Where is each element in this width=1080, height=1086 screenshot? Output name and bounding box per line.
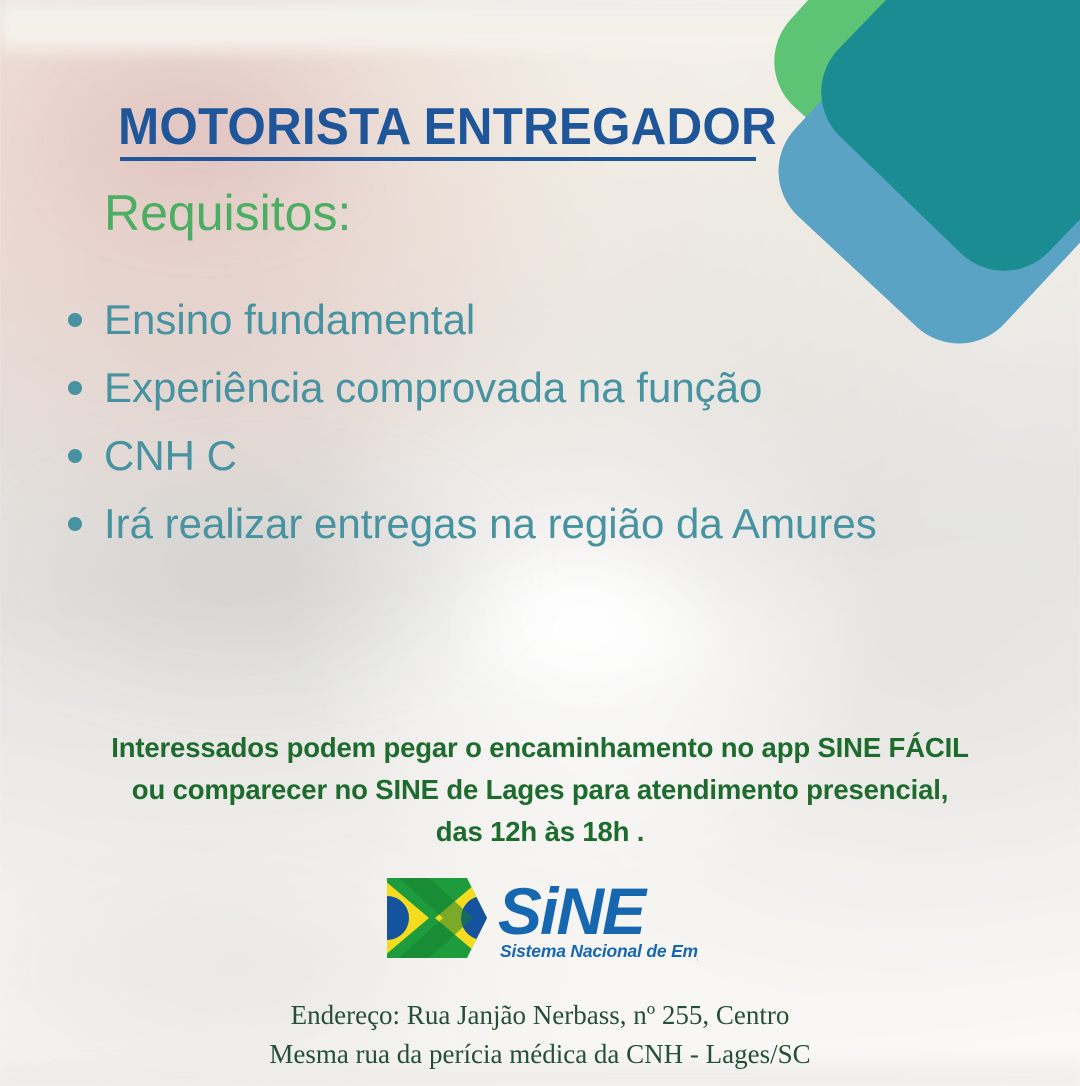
cta-line-1: Interessados podem pegar o encaminhament… (0, 727, 1080, 769)
bullet-icon (68, 517, 82, 531)
svg-text:SiNE: SiNE (498, 874, 648, 948)
list-item: CNH C (58, 422, 1018, 490)
background-blur-center (432, 543, 756, 717)
bullet-icon (68, 313, 82, 327)
cta-line-3: das 12h às 18h . (0, 811, 1080, 853)
sine-logo: SiNE Sistema Nacional de Emprego (0, 872, 1080, 964)
list-item: Ensino fundamental (58, 286, 1018, 354)
brazil-flag-chevron-icon (383, 872, 489, 964)
list-item-label: CNH C (104, 432, 237, 479)
call-to-action-text: Interessados podem pegar o encaminhament… (0, 727, 1080, 852)
bullet-icon (68, 381, 82, 395)
svg-text:Sistema Nacional de Emprego: Sistema Nacional de Emprego (500, 941, 698, 961)
list-item: Irá realizar entregas na região da Amure… (58, 490, 1018, 558)
list-item-label: Irá realizar entregas na região da Amure… (104, 500, 877, 547)
list-item-label: Ensino fundamental (104, 296, 475, 343)
requirements-heading: Requisitos: (104, 186, 351, 241)
address-line-2: Mesma rua da perícia médica da CNH - Lag… (0, 1035, 1080, 1074)
list-item: Experiência comprovada na função (58, 354, 1018, 422)
list-item-label: Experiência comprovada na função (104, 364, 762, 411)
job-vacancy-poster: MOTORISTA ENTREGADOR Requisitos: Ensino … (0, 0, 1080, 1086)
requirements-list: Ensino fundamental Experiência comprovad… (58, 286, 1018, 558)
page-title-underline (120, 157, 756, 161)
bullet-icon (68, 449, 82, 463)
page-title: MOTORISTA ENTREGADOR (118, 100, 777, 155)
address-line-1: Endereço: Rua Janjão Nerbass, nº 255, Ce… (0, 996, 1080, 1035)
sine-wordmark: SiNE Sistema Nacional de Emprego (498, 872, 698, 964)
address-block: Endereço: Rua Janjão Nerbass, nº 255, Ce… (0, 996, 1080, 1074)
cta-line-2: ou comparecer no SINE de Lages para aten… (0, 769, 1080, 811)
